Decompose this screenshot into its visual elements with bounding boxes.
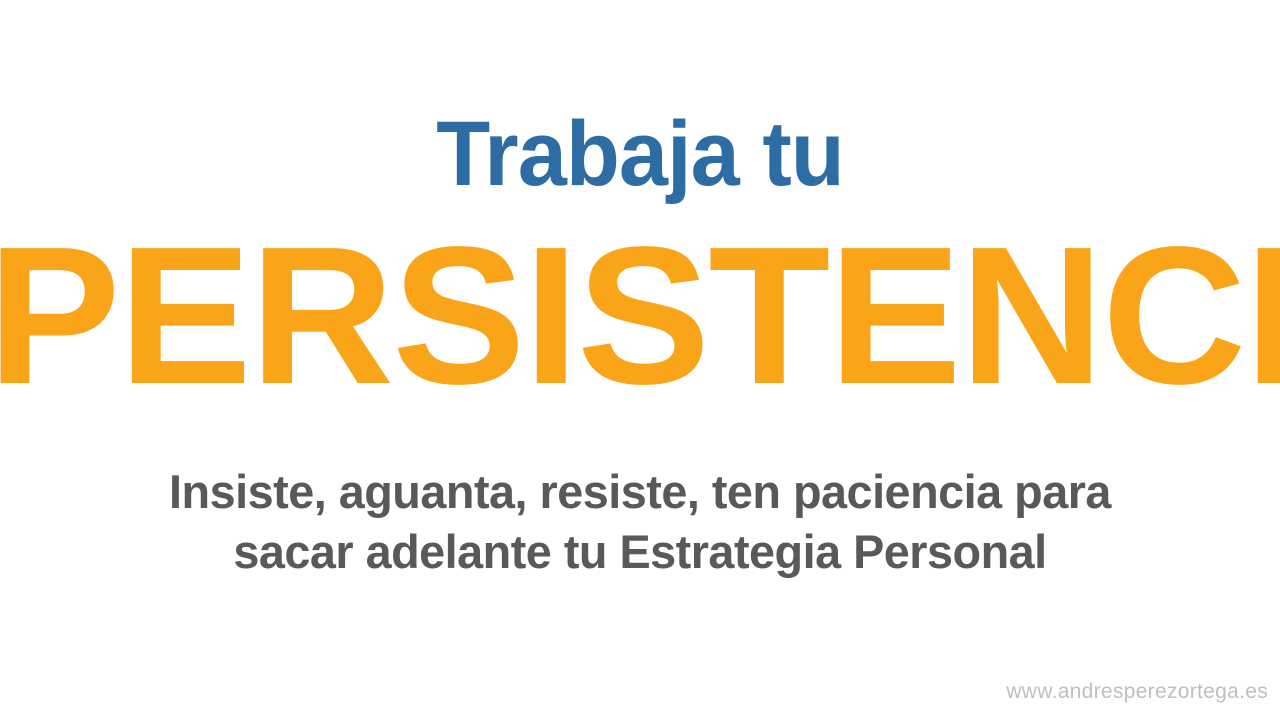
footer-watermark: www.andresperezortega.es xyxy=(1006,680,1268,704)
headline-block: Trabaja tu PERSISTENCIA xyxy=(0,108,1280,414)
subtitle-block: Insiste, aguanta, resiste, ten paciencia… xyxy=(0,462,1280,582)
subtitle-line-2: sacar adelante tu Estrategia Personal xyxy=(3,522,1277,582)
subtitle-line-1: Insiste, aguanta, resiste, ten paciencia… xyxy=(3,462,1277,522)
poster-slide: Trabaja tu PERSISTENCIA Insiste, aguanta… xyxy=(0,0,1280,720)
headline-hero-word: PERSISTENCIA xyxy=(0,218,1280,414)
headline-kicker: Trabaja tu xyxy=(26,108,1255,200)
